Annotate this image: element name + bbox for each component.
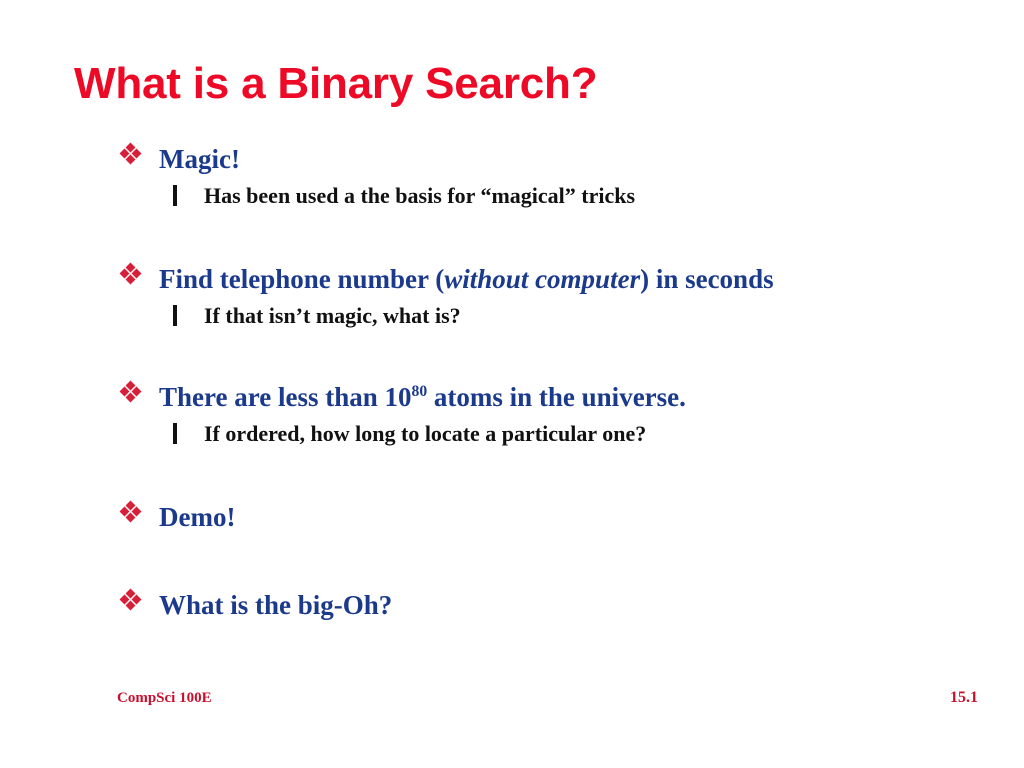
bullet-level2-label: Has been used a the basis for “magical” …: [204, 182, 635, 210]
bullet-level2-magic-sub[interactable]: Has been used a the basis for “magical” …: [0, 182, 1024, 210]
bullet-level1-magic[interactable]: Magic!: [0, 142, 1024, 176]
spacer: [0, 210, 1024, 262]
bullet-level1-big-oh[interactable]: What is the big-Oh?: [0, 588, 1024, 622]
spacer: [0, 330, 1024, 380]
bullet-level1-label: There are less than 1080 atoms in the un…: [159, 380, 686, 414]
bullet-level2-label: If ordered, how long to locate a particu…: [204, 420, 646, 448]
diamond-cluster-bullet-icon: [121, 144, 143, 170]
footer-page-number: 15.1: [950, 688, 978, 708]
page-title: What is a Binary Search?: [74, 58, 954, 110]
bullet-text-italic: without computer: [444, 264, 640, 294]
bullet-group-5: What is the big-Oh?: [0, 588, 1024, 622]
bullet-group-3: There are less than 1080 atoms in the un…: [0, 380, 1024, 448]
diamond-cluster-bullet-icon: [121, 264, 143, 290]
bullet-level1-atoms-universe[interactable]: There are less than 1080 atoms in the un…: [0, 380, 1024, 414]
bullet-level1-label: Demo!: [159, 500, 235, 534]
hollow-square-bullet-icon: [173, 425, 189, 443]
bullet-level2-label: If that isn’t magic, what is?: [204, 302, 461, 330]
diamond-cluster-bullet-icon: [121, 590, 143, 616]
footer-course-label: CompSci 100E: [117, 688, 212, 708]
bullet-text-prefix: Find telephone number (: [159, 264, 444, 294]
bullet-level2-find-telephone-sub[interactable]: If that isn’t magic, what is?: [0, 302, 1024, 330]
spacer: [0, 448, 1024, 500]
diamond-cluster-bullet-icon: [121, 382, 143, 408]
bullet-text-superscript: 80: [412, 383, 428, 400]
bullet-text-suffix: ) in seconds: [640, 264, 774, 294]
bullet-level2-atoms-universe-sub[interactable]: If ordered, how long to locate a particu…: [0, 420, 1024, 448]
hollow-square-bullet-icon: [173, 307, 189, 325]
bullet-group-2: Find telephone number (without computer)…: [0, 262, 1024, 330]
slide-canvas: What is a Binary Search? Magic! Has been…: [0, 0, 1024, 768]
bullet-level1-label: Magic!: [159, 142, 240, 176]
bullet-text-suffix: atoms in the universe.: [427, 382, 686, 412]
bullet-level1-find-telephone[interactable]: Find telephone number (without computer)…: [0, 262, 1024, 296]
bullet-text-prefix: There are less than 10: [159, 382, 412, 412]
bullet-group-4: Demo!: [0, 500, 1024, 534]
bullet-group-1: Magic! Has been used a the basis for “ma…: [0, 142, 1024, 210]
bullet-level1-demo[interactable]: Demo!: [0, 500, 1024, 534]
bullet-level1-label: Find telephone number (without computer)…: [159, 262, 774, 296]
diamond-cluster-bullet-icon: [121, 502, 143, 528]
hollow-square-bullet-icon: [173, 187, 189, 205]
bullet-level1-label: What is the big-Oh?: [159, 588, 392, 622]
spacer: [0, 536, 1024, 588]
bullet-list: Magic! Has been used a the basis for “ma…: [0, 142, 1024, 624]
